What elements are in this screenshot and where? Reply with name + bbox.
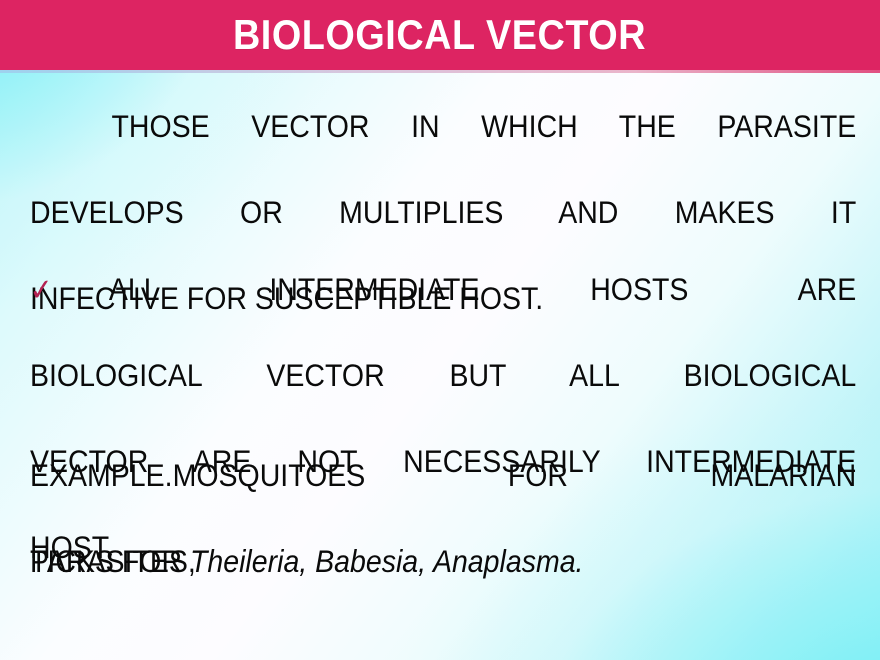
definition-line-2: DEVELOPS OR MULTIPLIES AND MAKES IT bbox=[30, 191, 856, 277]
species-names: Theileria, Babesia, Anaplasma. bbox=[190, 543, 584, 579]
title-band: BIOLOGICAL VECTOR bbox=[0, 0, 880, 70]
example-line-1: EXAMPLE.MOSQUITOES FOR MALARIAN bbox=[30, 454, 856, 540]
ticks-paragraph: TICKS FOR Theileria, Babesia, Anaplasma. bbox=[30, 540, 778, 583]
slide-body: THOSE VECTOR IN WHICH THE PARASITE DEVEL… bbox=[0, 73, 880, 660]
bullet-line-1: ✓ALL INTERMEDIATE HOSTS ARE bbox=[30, 268, 856, 354]
title-band-underline bbox=[0, 70, 880, 73]
definition-line-1: THOSE VECTOR IN WHICH THE PARASITE bbox=[30, 105, 856, 191]
slide: BIOLOGICAL VECTOR THOSE VECTOR IN WHICH … bbox=[0, 0, 880, 660]
bullet-line-2: BIOLOGICAL VECTOR BUT ALL BIOLOGICAL bbox=[30, 354, 856, 440]
ticks-line: TICKS FOR Theileria, Babesia, Anaplasma. bbox=[30, 540, 856, 583]
ticks-prefix: TICKS FOR bbox=[30, 543, 190, 579]
check-icon: ✓ bbox=[28, 275, 54, 307]
slide-title: BIOLOGICAL VECTOR bbox=[233, 14, 646, 56]
